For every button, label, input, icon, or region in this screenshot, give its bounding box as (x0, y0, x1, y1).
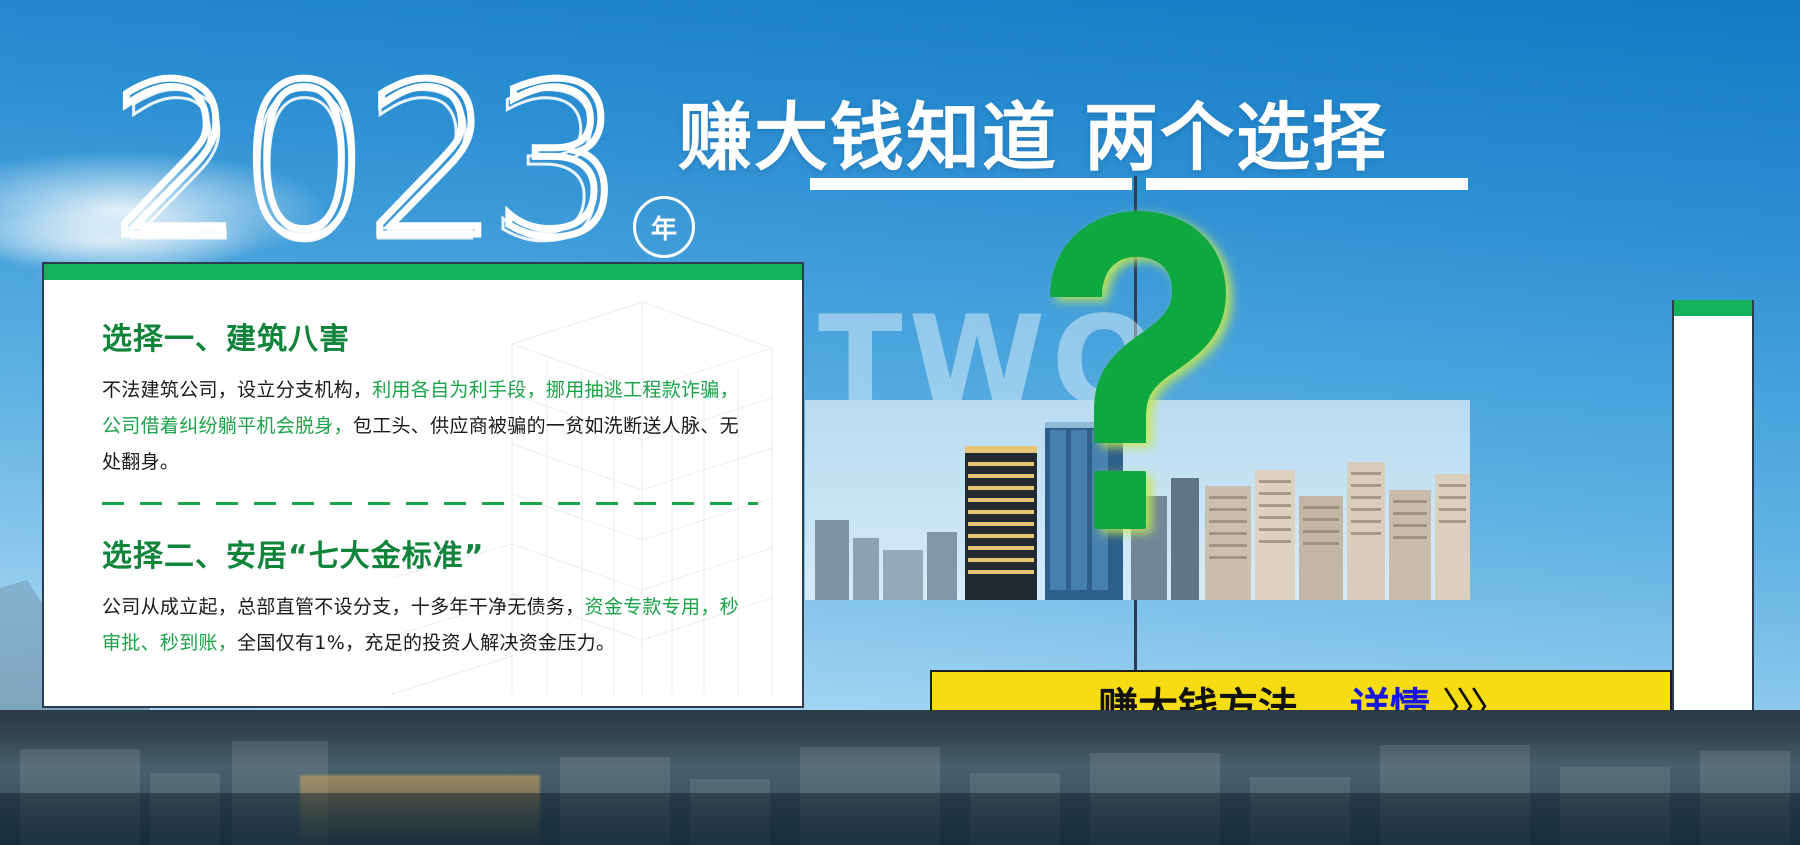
promotional-banner: 2023 2023 年 赚大钱知道两个选择 TWO choices (0, 0, 1800, 845)
section-2-run-3: 全国仅有1%，充足的投资人解决资金压力。 (237, 632, 615, 654)
content-card: 选择一、建筑八害 不法建筑公司，设立分支机构，利用各自为利手段，挪用抽逃工程款诈… (42, 262, 804, 708)
right-panel-green-bar (1674, 300, 1752, 316)
card-green-bar (44, 264, 802, 280)
cloud-decoration (0, 150, 330, 270)
year-outline-text: 2023 (110, 62, 620, 262)
section-2-title: 选择二、安居“七大金标准” (102, 531, 758, 575)
headline-part-1: 赚大钱知道 (678, 95, 1058, 181)
title-underline-left (810, 178, 1132, 190)
headline-part-2: 两个选择 (1084, 95, 1388, 181)
section-1-run-1: 不法建筑公司，设立分支机构， (102, 379, 372, 401)
section-2-run-1: 公司从成立起，总部直管不设分支，十多年干净无债务， (102, 596, 585, 618)
year-suffix-badge: 年 (633, 196, 695, 258)
section-divider (102, 502, 758, 505)
card-section-1: 选择一、建筑八害 不法建筑公司，设立分支机构，利用各自为利手段，挪用抽逃工程款诈… (102, 314, 758, 480)
year-suffix-label: 年 (651, 209, 677, 246)
card-section-2: 选择二、安居“七大金标准” 公司从成立起，总部直管不设分支，十多年干净无债务，资… (102, 531, 758, 661)
right-accent-panel (1672, 300, 1754, 728)
section-1-title: 选择一、建筑八害 (102, 314, 758, 358)
bottom-photo-strip (0, 710, 1800, 845)
section-2-body: 公司从成立起，总部直管不设分支，十多年干净无债务，资金专款专用，秒审批、秒到账，… (102, 589, 758, 661)
title-underline-right (1146, 178, 1468, 190)
city-skyline-photo (805, 400, 1470, 600)
section-1-body: 不法建筑公司，设立分支机构，利用各自为利手段，挪用抽逃工程款诈骗，公司借着纠纷躺… (102, 372, 758, 480)
page-title: 赚大钱知道两个选择 (678, 78, 1388, 185)
svg-text:2023: 2023 (118, 62, 611, 262)
